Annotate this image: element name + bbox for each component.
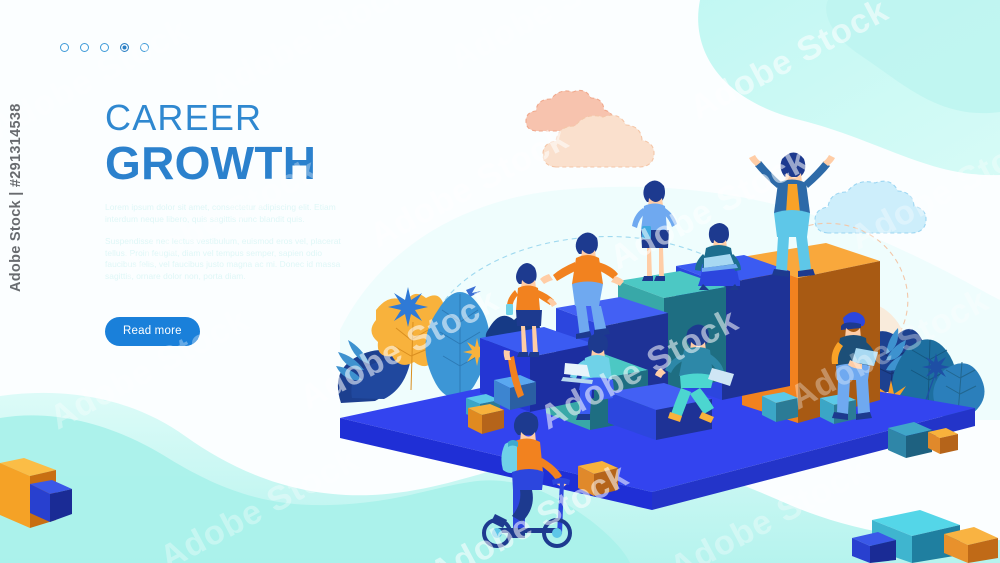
watermark-side-text: Adobe Stock | #291314538 [8, 103, 24, 292]
title-line-1: CAREER [105, 100, 316, 136]
title-line-2: GROWTH [105, 139, 316, 187]
flower-blue-r [922, 353, 950, 381]
body-paragraph-2: Suspendisse nec lectus vestibulum, euism… [105, 236, 353, 282]
notebook-icon [642, 226, 651, 239]
slide-dot-2[interactable] [80, 43, 89, 52]
cube-orange-right-edge [928, 428, 958, 454]
cube-orange-front [578, 461, 618, 496]
phone-icon [506, 304, 513, 315]
cube-orange-bottom-right [944, 527, 998, 563]
slide-dot-5[interactable] [140, 43, 149, 52]
character-woman-standing-top [632, 181, 677, 282]
slide-dot-4[interactable] [120, 43, 129, 52]
cube-teal-under-orange-bar [762, 392, 798, 422]
read-more-button[interactable]: Read more [105, 317, 200, 346]
slide-indicator[interactable] [60, 43, 149, 52]
page-stage: CAREER GROWTH Lorem ipsum dolor sit amet… [0, 0, 1000, 563]
slide-dot-3[interactable] [100, 43, 109, 52]
page-title: CAREER GROWTH [105, 100, 316, 187]
cloud-blue [815, 181, 926, 233]
cube-blue-bottom-left [30, 480, 72, 522]
cube-teal-right-edge [888, 422, 932, 458]
slide-dot-1[interactable] [60, 43, 69, 52]
flower-blue-star [388, 287, 428, 327]
body-paragraph-1: Lorem ipsum dolor sit amet, consectetur … [105, 202, 353, 225]
bar5-right [722, 271, 790, 400]
character-man-laptop-sitting [695, 223, 741, 290]
